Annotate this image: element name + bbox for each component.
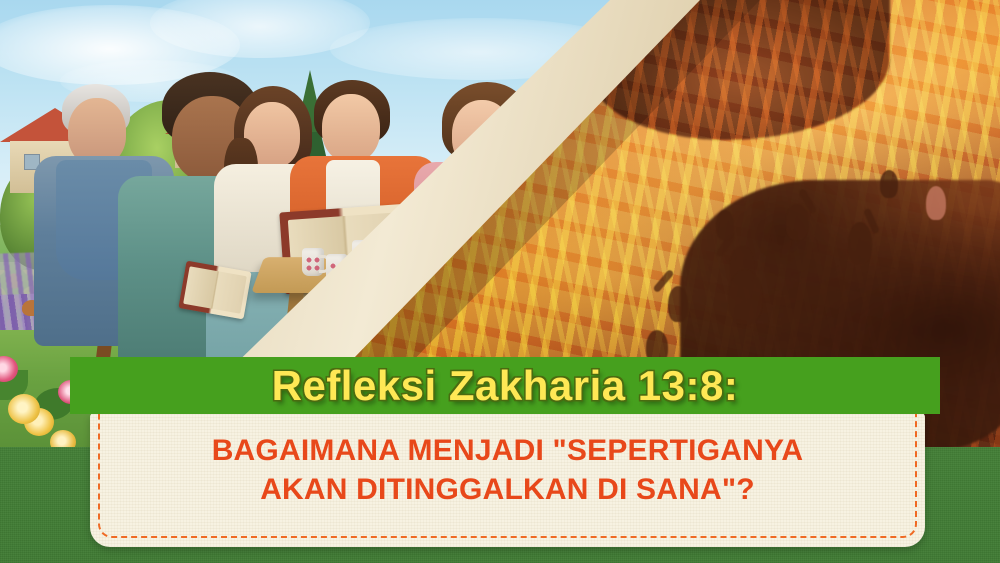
subtitle-card: BAGAIMANA MENJADI "SEPERTIGANYA AKAN DIT… [90,413,925,547]
figure-in-fire [926,186,946,220]
figure-in-fire [786,204,808,240]
figure-in-fire [728,270,762,324]
figure-in-fire [848,222,872,264]
title-banner: Refleksi Zakharia 13:8: [70,357,940,414]
figure-in-fire [716,210,734,240]
figure-in-fire [668,286,688,322]
subtitle-line-1: BAGAIMANA MENJADI "SEPERTIGANYA [116,431,899,470]
mug-icon [302,248,324,276]
page-title: Refleksi Zakharia 13:8: [70,357,940,414]
subtitle-line-2: AKAN DITINGGALKAN DI SANA"? [116,470,899,509]
figure-in-fire [880,170,898,198]
subtitle-text: BAGAIMANA MENJADI "SEPERTIGANYA AKAN DIT… [116,431,899,509]
poster-canvas: Refleksi Zakharia 13:8: BAGAIMANA MENJAD… [0,0,1000,563]
